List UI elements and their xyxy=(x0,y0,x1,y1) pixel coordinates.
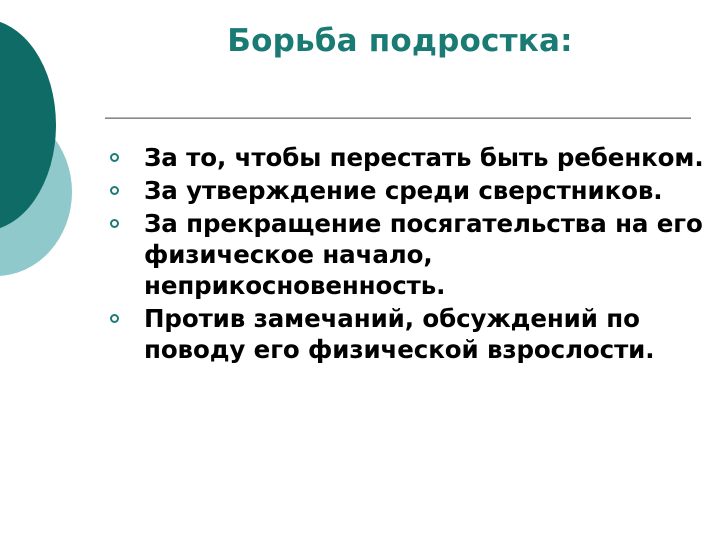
bullet-text: За то, чтобы перестать быть ребенком. xyxy=(144,143,708,174)
hollow-circle-bullet-icon xyxy=(110,314,119,323)
bullet-text: За утверждение среди сверстников. xyxy=(144,176,708,207)
dark-teal-circle-decoration xyxy=(0,19,56,231)
presentation-slide: Борьба подростка: За то, чтобы перестать… xyxy=(0,0,720,540)
hollow-circle-bullet-icon xyxy=(110,219,119,228)
list-item: За утверждение среди сверстников. xyxy=(108,176,708,207)
list-item: За то, чтобы перестать быть ребенком. xyxy=(108,143,708,174)
bullet-text: За прекращение посягательства на его физ… xyxy=(144,209,708,302)
light-teal-circle-decoration xyxy=(0,108,72,276)
list-item: За прекращение посягательства на его физ… xyxy=(108,209,708,302)
hollow-circle-bullet-icon xyxy=(110,186,119,195)
bullet-list: За то, чтобы перестать быть ребенком. За… xyxy=(108,143,708,368)
hollow-circle-bullet-icon xyxy=(110,153,119,162)
list-item: Против замечаний, обсуждений по поводу е… xyxy=(108,304,708,366)
bullet-text: Против замечаний, обсуждений по поводу е… xyxy=(144,304,708,366)
title-divider-rule xyxy=(105,117,691,119)
slide-title: Борьба подростка: xyxy=(105,24,695,60)
